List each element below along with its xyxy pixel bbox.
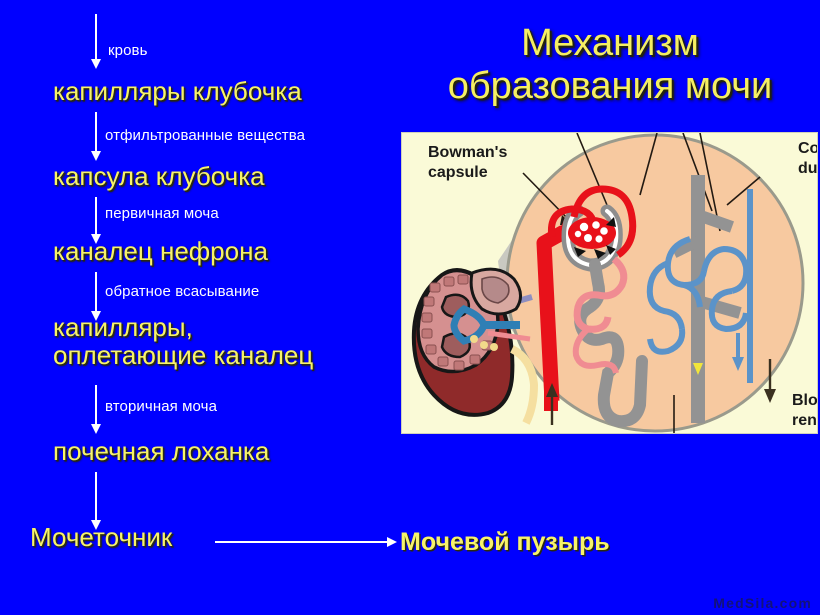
transition-label-primary-urine: первичная моча: [105, 205, 219, 222]
transition-label-secondary-urine: вторичная моча: [105, 398, 217, 415]
kidney-illustration: [414, 269, 534, 423]
bowmans-capsule-label-line2: capsule: [428, 164, 488, 181]
transition-label-filtered-substances: отфильтрованные вещества: [105, 127, 305, 144]
flow-arrow-5: [95, 385, 97, 425]
stage-ureter: Мочеточник: [30, 524, 172, 552]
transition-label-blood: кровь: [108, 42, 148, 59]
slide-canvas: Механизм образования мочи кровь капилляр…: [0, 0, 820, 615]
flow-arrow-3: [95, 197, 97, 235]
flow-arrow-1: [95, 14, 97, 60]
stage-glomerular-capsule: капсула клубочка: [53, 163, 265, 191]
final-target-bladder: Мочевой пузырь: [400, 528, 610, 557]
collecting-duct-label-line2: duc: [798, 160, 817, 177]
stage-glomerular-capillaries: капилляры клубочка: [53, 78, 302, 106]
stage-renal-pelvis: почечная лоханка: [53, 438, 269, 466]
flow-arrow-2: [95, 112, 97, 152]
flow-arrow-7-horizontal: [215, 541, 387, 543]
transition-label-reabsorption: обратное всасывание: [105, 283, 259, 300]
stage-peritubular-capillaries: капилляры, оплетающие каналец: [53, 314, 313, 369]
flow-arrow-4: [95, 272, 97, 312]
blood-renal-label-line1: Bloo: [792, 392, 817, 409]
flow-arrow-6: [95, 472, 97, 521]
bowmans-capsule-label-line1: Bowman's: [428, 144, 507, 161]
nephron-diagram-figure: Bowman's capsule Col duc Bloo rena: [401, 132, 818, 434]
stage-nephron-tubule: каналец нефрона: [53, 238, 268, 266]
collecting-duct-label-line1: Col: [798, 140, 817, 157]
watermark: MedSila.com: [713, 595, 812, 611]
blood-out-arrowhead: [764, 389, 776, 403]
nephron-diagram-svg: Bowman's capsule Col duc Bloo rena: [402, 133, 817, 433]
page-title: Механизм образования мочи: [410, 22, 810, 107]
blood-renal-label-line2: rena: [792, 412, 817, 429]
